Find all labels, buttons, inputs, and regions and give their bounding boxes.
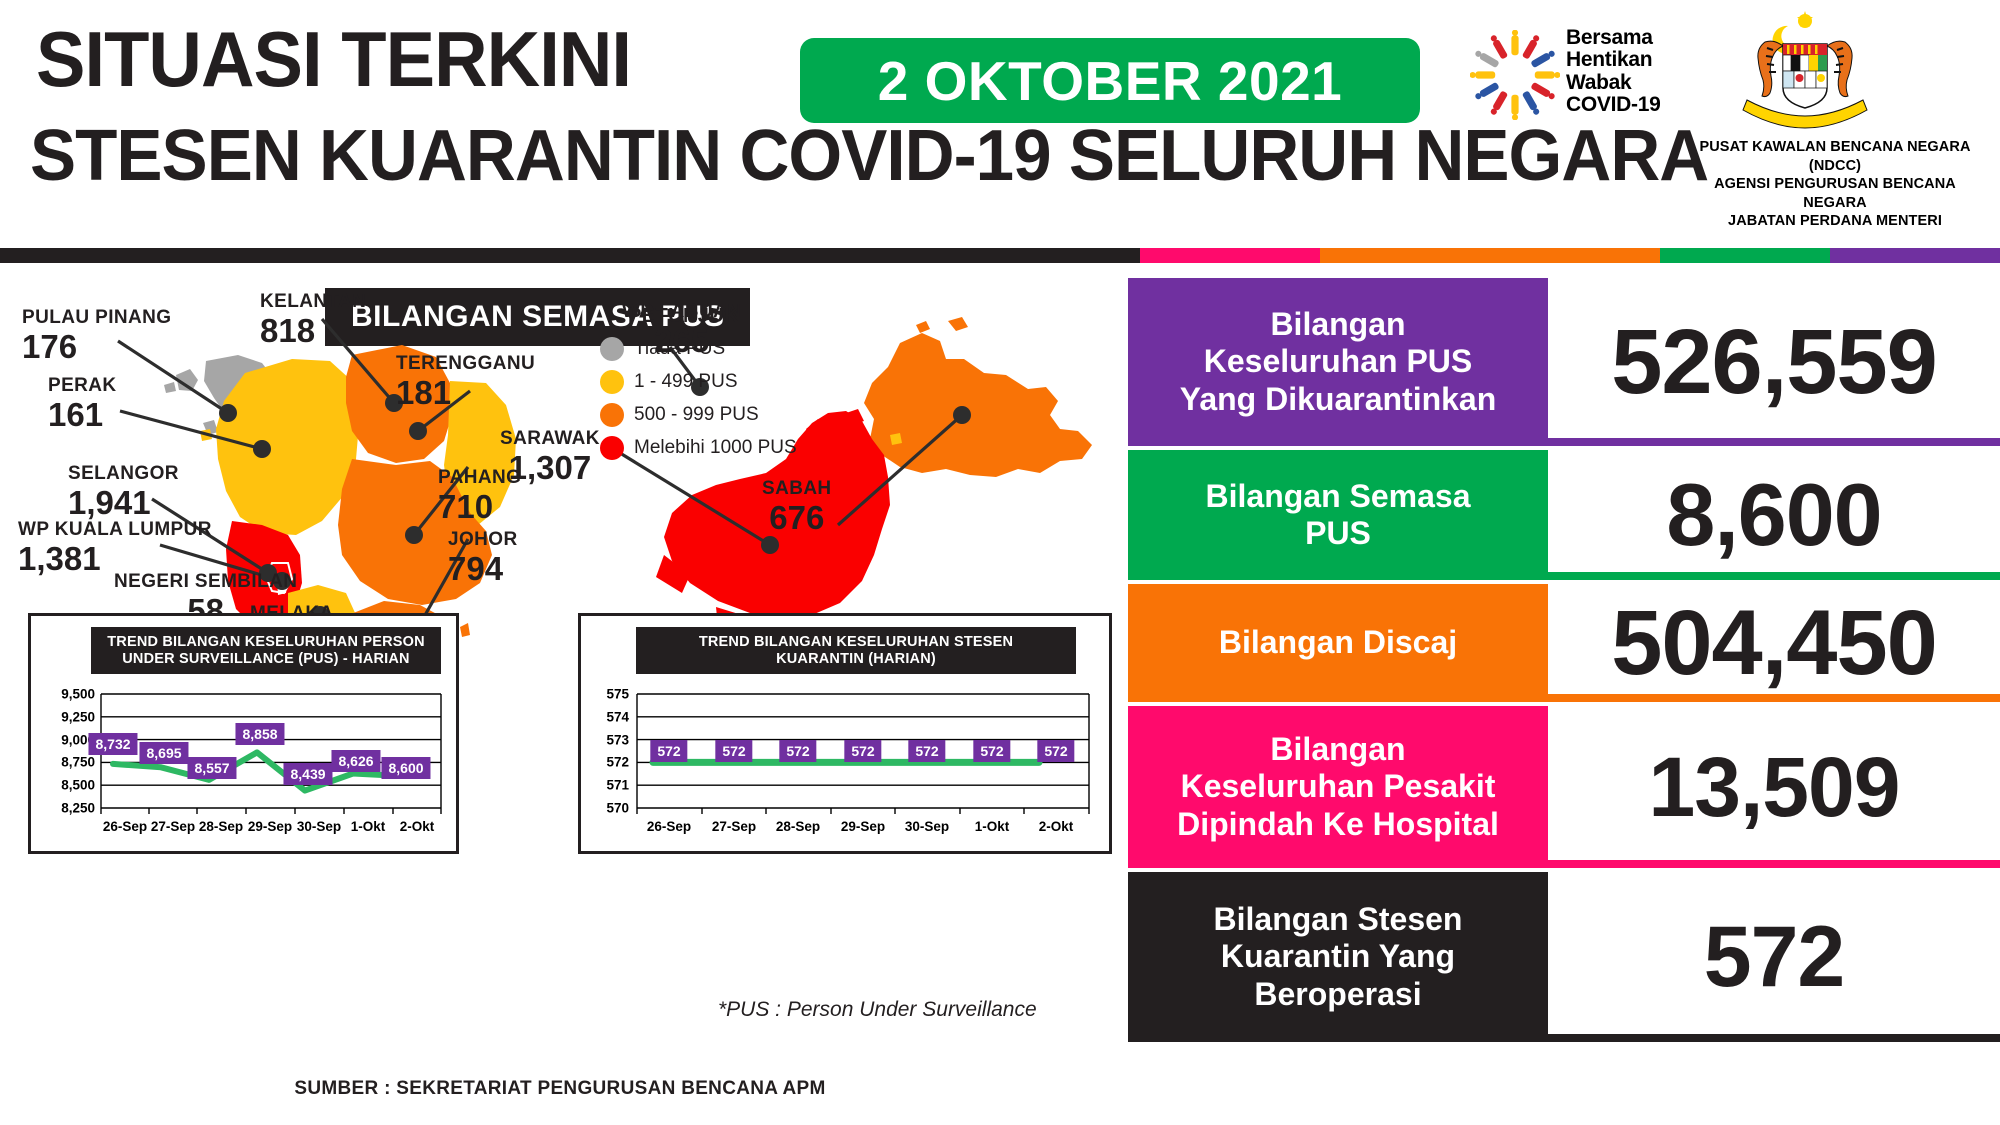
- stat-value-wrap-stesen-beroperasi: 572: [1548, 872, 2000, 1042]
- map-label-perak: PERAK 161: [48, 375, 117, 433]
- chart1-datalabel-1: 8,695: [139, 742, 188, 764]
- date-badge: 2 OKTOBER 2021: [800, 38, 1420, 123]
- stat-label-stesen-beroperasi: Bilangan Stesen Kuarantin Yang Beroperas…: [1128, 872, 1548, 1042]
- chart2-datalabel-2: 572: [779, 740, 816, 762]
- stat-label-pesakit-dipindah: Bilangan Keseluruhan Pesakit Dipindah Ke…: [1128, 706, 1548, 868]
- legend-item-melebihi-1000: Melebihi 1000 PUS: [600, 436, 850, 460]
- source-note: SUMBER : SEKRETARIAT PENGURUSAN BENCANA …: [0, 1078, 1120, 1100]
- stat-value-pesakit-dipindah: 13,509: [1649, 745, 1900, 829]
- stat-underline-dark: [1548, 1034, 2000, 1042]
- stat-row-discaj: Bilangan Discaj 504,450: [1128, 584, 2000, 702]
- chart2-ytick-0: 570: [581, 801, 629, 816]
- stat-value-discaj: 504,450: [1611, 597, 1937, 689]
- map-legend: PETUNJUK Tiada PUS 1 - 499 PUS 500 - 999…: [600, 305, 850, 460]
- bhw-logo-text: Bersama Hentikan Wabak COVID-19: [1566, 27, 1660, 117]
- stat-underline-orange: [1548, 694, 2000, 702]
- map-label-wp-kuala-lumpur: WP KUALA LUMPUR 1,381: [18, 519, 212, 577]
- legend-item-500-999: 500 - 999 PUS: [600, 403, 850, 427]
- stat-label-line-2: Keseluruhan PUS: [1180, 343, 1497, 380]
- stat-label-line-1: Bilangan Semasa: [1206, 478, 1471, 515]
- chart1-datalabel-0: 8,732: [88, 733, 137, 755]
- chart2-datalabel-5: 572: [973, 740, 1010, 762]
- map-label-selangor: SELANGOR 1,941: [68, 463, 179, 521]
- bhw-line-2: Hentikan: [1566, 49, 1660, 71]
- stripe-seg-green: [1660, 248, 1830, 263]
- state-name: WP KUALA LUMPUR: [18, 519, 212, 541]
- stat-value-wrap-discaj: 504,450: [1548, 584, 2000, 702]
- map-label-terengganu: TERENGGANU 181: [396, 353, 535, 411]
- chart1-datalabel-3: 8,858: [235, 723, 284, 745]
- stat-label-line-1: Bilangan: [1180, 306, 1497, 343]
- state-name: NEGERI SEMBILAN: [114, 571, 297, 593]
- chart1-xtick-6: 2-Okt: [400, 819, 435, 834]
- state-name: KELANTAN: [260, 291, 366, 313]
- chart2-datalabel-4: 572: [908, 740, 945, 762]
- stat-label-line-1: Bilangan Discaj: [1219, 624, 1457, 661]
- state-name: SARAWAK: [500, 428, 600, 450]
- chart1-datalabel-5: 8,626: [331, 750, 380, 772]
- stat-value-wrap-keseluruhan-pus: 526,559: [1548, 278, 2000, 446]
- state-shape-perak: [216, 359, 360, 535]
- stat-label-line-2: PUS: [1206, 515, 1471, 552]
- chart1-datalabel-6: 8,600: [381, 757, 430, 779]
- chart1-ytick-4: 9,250: [33, 709, 95, 724]
- date-badge-label: 2 OKTOBER 2021: [878, 49, 1343, 113]
- legend-item-1-499: 1 - 499 PUS: [600, 370, 850, 394]
- chart1-datalabel-2: 8,557: [187, 757, 236, 779]
- map-label-johor: JOHOR 794: [448, 529, 518, 587]
- chart2-xtick-1: 27-Sep: [712, 819, 756, 834]
- legend-item-tiada-pus: Tiada PUS: [600, 337, 850, 361]
- stat-label-line-2: Keseluruhan Pesakit: [1177, 768, 1499, 805]
- stats-panel: Bilangan Keseluruhan PUS Yang Dikuaranti…: [1128, 278, 2000, 1125]
- stat-row-semasa-pus: Bilangan Semasa PUS 8,600: [1128, 450, 2000, 580]
- stat-row-pesakit-dipindah: Bilangan Keseluruhan Pesakit Dipindah Ke…: [1128, 706, 2000, 868]
- stat-underline-pink: [1548, 860, 2000, 868]
- chart2-datalabel-3: 572: [844, 740, 881, 762]
- state-name: JOHOR: [448, 529, 518, 551]
- chart2-ytick-1: 571: [581, 778, 629, 793]
- legend-color-swatch-grey: [600, 337, 624, 361]
- stripe-seg-dark: [0, 248, 1140, 263]
- stat-label-line-1: Bilangan: [1177, 731, 1499, 768]
- state-name: SELANGOR: [68, 463, 179, 485]
- legend-label: 1 - 499 PUS: [634, 371, 738, 393]
- legend-color-swatch-orange: [600, 403, 624, 427]
- map-label-sabah: SABAH 676: [762, 478, 832, 536]
- chart1-xtick-3: 29-Sep: [248, 819, 292, 834]
- chart1-xtick-4: 30-Sep: [297, 819, 341, 834]
- stat-value-stesen-beroperasi: 572: [1704, 914, 1845, 1000]
- page-title-line1: SITUASI TERKINI: [36, 20, 631, 98]
- state-value: 1,307: [500, 450, 600, 486]
- stat-label-line-1: Bilangan Stesen: [1214, 901, 1463, 938]
- chart2-ytick-4: 574: [581, 709, 629, 724]
- chart2-xtick-3: 29-Sep: [841, 819, 885, 834]
- state-value: 794: [448, 551, 518, 587]
- map-label-sarawak: SARAWAK 1,307: [500, 428, 600, 486]
- chart2-xtick-5: 1-Okt: [975, 819, 1010, 834]
- chart1-xtick-1: 27-Sep: [151, 819, 195, 834]
- state-value: 818: [260, 313, 366, 349]
- stat-label-line-3: Beroperasi: [1214, 976, 1463, 1013]
- stat-label-discaj: Bilangan Discaj: [1128, 584, 1548, 702]
- map-panel: BILANGAN SEMASA PUS: [0, 263, 1120, 1125]
- chart-stesen-kuarantin-harian: TREND BILANGAN KESELURUHAN STESEN KUARAN…: [578, 613, 1112, 854]
- stat-label-line-3: Dipindah Ke Hospital: [1177, 806, 1499, 843]
- malaysia-coat-of-arms-icon: [1725, 8, 1885, 133]
- chart1-ytick-2: 8,750: [33, 755, 95, 770]
- sunburst-icon: [1470, 30, 1560, 120]
- state-value: 1,941: [68, 485, 179, 521]
- stat-underline-purple: [1548, 438, 2000, 446]
- state-shape-wp-labuan: [890, 433, 902, 445]
- state-shape-sabah: [864, 333, 1092, 477]
- stat-label-semasa-pus: Bilangan Semasa PUS: [1128, 450, 1548, 580]
- legend-label: 500 - 999 PUS: [634, 404, 759, 426]
- legend-label: Melebihi 1000 PUS: [634, 437, 797, 459]
- map-label-kelantan: KELANTAN 818: [260, 291, 366, 349]
- chart2-datalabel-6: 572: [1037, 740, 1074, 762]
- agency-line-3: JABATAN PERDANA MENTERI: [1690, 212, 1980, 231]
- chart2-plot: [581, 616, 1109, 851]
- legend-label: Tiada PUS: [634, 338, 725, 360]
- agency-name: PUSAT KAWALAN BENCANA NEGARA (NDCC) AGEN…: [1690, 138, 1980, 231]
- stat-underline-green: [1548, 572, 2000, 580]
- page-title-line2: STESEN KUARANTIN COVID-19 SELURUH NEGARA: [30, 120, 1708, 192]
- chart1-ytick-3: 9,000: [33, 732, 95, 747]
- bhw-line-4: COVID-19: [1566, 94, 1660, 116]
- stripe-seg-orange: [1320, 248, 1660, 263]
- stat-label-line-3: Yang Dikuarantinkan: [1180, 381, 1497, 418]
- chart1-xtick-0: 26-Sep: [103, 819, 147, 834]
- legend-color-swatch-red: [600, 436, 624, 460]
- chart1-ytick-5: 9,500: [33, 687, 95, 702]
- state-name: PULAU PINANG: [22, 307, 171, 329]
- bhw-line-1: Bersama: [1566, 27, 1660, 49]
- chart1-ytick-0: 8,250: [33, 801, 95, 816]
- pus-footnote: *PUS : Person Under Surveillance: [718, 998, 1037, 1022]
- color-stripe: [0, 248, 2000, 263]
- chart2-xtick-2: 28-Sep: [776, 819, 820, 834]
- state-value: 710: [438, 489, 521, 525]
- stat-value-semasa-pus: 8,600: [1666, 471, 1881, 559]
- stat-value-keseluruhan-pus: 526,559: [1611, 316, 1937, 408]
- stripe-seg-pink: [1140, 248, 1320, 263]
- state-value: 676: [762, 500, 832, 536]
- chart2-ytick-3: 573: [581, 732, 629, 747]
- stat-label-line-2: Kuarantin Yang: [1214, 938, 1463, 975]
- state-value: 161: [48, 397, 117, 433]
- infographic-root: SITUASI TERKINI 2 OKTOBER 2021 STESEN KU…: [0, 0, 2000, 1125]
- agency-line-1: PUSAT KAWALAN BENCANA NEGARA (NDCC): [1690, 138, 1980, 175]
- chart2-ytick-5: 575: [581, 687, 629, 702]
- chart2-datalabel-1: 572: [715, 740, 752, 762]
- chart2-xtick-4: 30-Sep: [905, 819, 949, 834]
- state-value: 181: [396, 375, 535, 411]
- legend-color-swatch-yellow: [600, 370, 624, 394]
- state-name: SABAH: [762, 478, 832, 500]
- chart1-ytick-1: 8,500: [33, 778, 95, 793]
- chart2-xtick-6: 2-Okt: [1039, 819, 1074, 834]
- state-name: PERAK: [48, 375, 117, 397]
- stat-value-wrap-pesakit-dipindah: 13,509: [1548, 706, 2000, 868]
- chart-pus-harian: TREND BILANGAN KESELURUHAN PERSON UNDER …: [28, 613, 459, 854]
- agency-line-2: AGENSI PENGURUSAN BENCANA NEGARA: [1690, 175, 1980, 212]
- chart1-xtick-5: 1-Okt: [351, 819, 386, 834]
- bersama-hentikan-wabak-logo: Bersama Hentikan Wabak COVID-19: [1470, 25, 1700, 130]
- chart2-xtick-0: 26-Sep: [647, 819, 691, 834]
- stat-row-stesen-beroperasi: Bilangan Stesen Kuarantin Yang Beroperas…: [1128, 872, 2000, 1042]
- map-label-pulau-pinang: PULAU PINANG 176: [22, 307, 171, 365]
- bhw-line-3: Wabak: [1566, 72, 1660, 94]
- stat-row-keseluruhan-pus: Bilangan Keseluruhan PUS Yang Dikuaranti…: [1128, 278, 2000, 446]
- stat-value-wrap-semasa-pus: 8,600: [1548, 450, 2000, 580]
- legend-title: PETUNJUK: [628, 305, 850, 328]
- chart2-ytick-2: 572: [581, 755, 629, 770]
- stat-label-keseluruhan-pus: Bilangan Keseluruhan PUS Yang Dikuaranti…: [1128, 278, 1548, 446]
- stripe-seg-purple: [1830, 248, 2000, 263]
- state-name: TERENGGANU: [396, 353, 535, 375]
- chart1-datalabel-4: 8,439: [283, 763, 332, 785]
- chart1-xtick-2: 28-Sep: [199, 819, 243, 834]
- chart2-datalabel-0: 572: [650, 740, 687, 762]
- state-value: 176: [22, 329, 171, 365]
